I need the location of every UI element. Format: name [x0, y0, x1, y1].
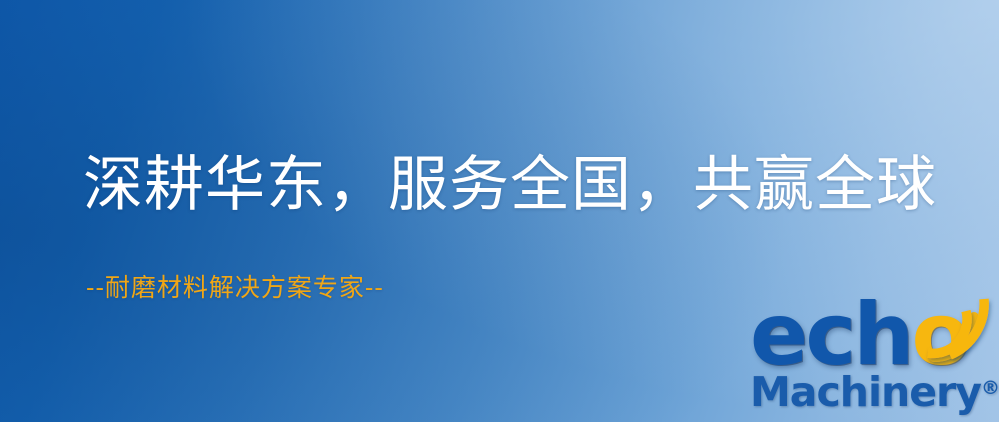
logo-tagline-machinery: Machinery®: [750, 372, 999, 413]
promotional-banner: 深耕华东，服务全国，共赢全球 --耐磨材料解决方案专家-- echo Machi…: [0, 0, 999, 422]
echo-signal-waves-icon: [920, 295, 996, 365]
echo-machinery-logo: echo Machinery®: [744, 296, 999, 422]
banner-headline: 深耕华东，服务全国，共赢全球: [83, 152, 937, 219]
registered-trademark-icon: ®: [981, 377, 999, 399]
banner-subtitle: --耐磨材料解决方案专家--: [86, 268, 384, 304]
logo-tagline-text: Machinery: [750, 368, 981, 416]
